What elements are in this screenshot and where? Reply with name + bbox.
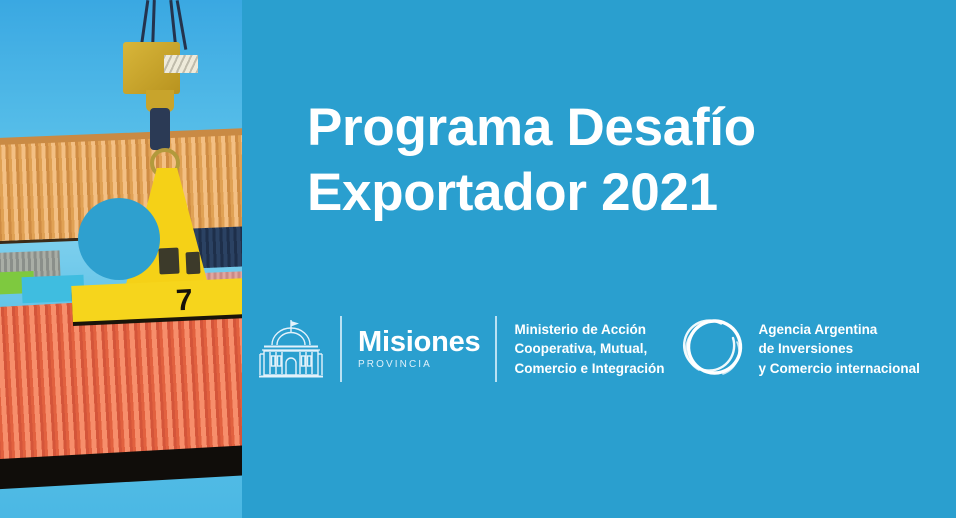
brushstroke-circle-icon (681, 316, 747, 382)
crane-window (186, 252, 201, 275)
misiones-wordmark: Misiones PROVINCIA (358, 328, 481, 370)
banner-content: Programa Desafío Exportador 2021 (242, 0, 956, 518)
crane-window (158, 248, 179, 275)
government-building-icon (258, 318, 324, 380)
crane-number-label: 7 (175, 286, 193, 317)
crane-warning-plate (164, 55, 198, 73)
crane-grab-bar (71, 278, 242, 322)
agency-logo: Agencia Argentina de Inversiones y Comer… (681, 316, 920, 382)
logo-strip: Misiones PROVINCIA Ministerio de Acción … (258, 306, 920, 392)
blue-circle-overlay (78, 198, 160, 280)
page-title: Programa Desafío Exportador 2021 (307, 96, 756, 225)
misiones-name: Misiones (358, 328, 481, 357)
crane-hook-block (150, 108, 170, 150)
logo-divider (495, 316, 497, 382)
port-container-photo: 7 (0, 0, 242, 518)
promo-banner: 7 Programa Desafío Exportador 2021 (0, 0, 956, 518)
misiones-subtitle: PROVINCIA (358, 360, 481, 370)
ministry-name: Ministerio de Acción Cooperativa, Mutual… (515, 320, 665, 377)
misiones-logo: Misiones PROVINCIA (258, 316, 481, 382)
logo-divider (340, 316, 342, 382)
agency-name: Agencia Argentina de Inversiones y Comer… (759, 320, 920, 377)
